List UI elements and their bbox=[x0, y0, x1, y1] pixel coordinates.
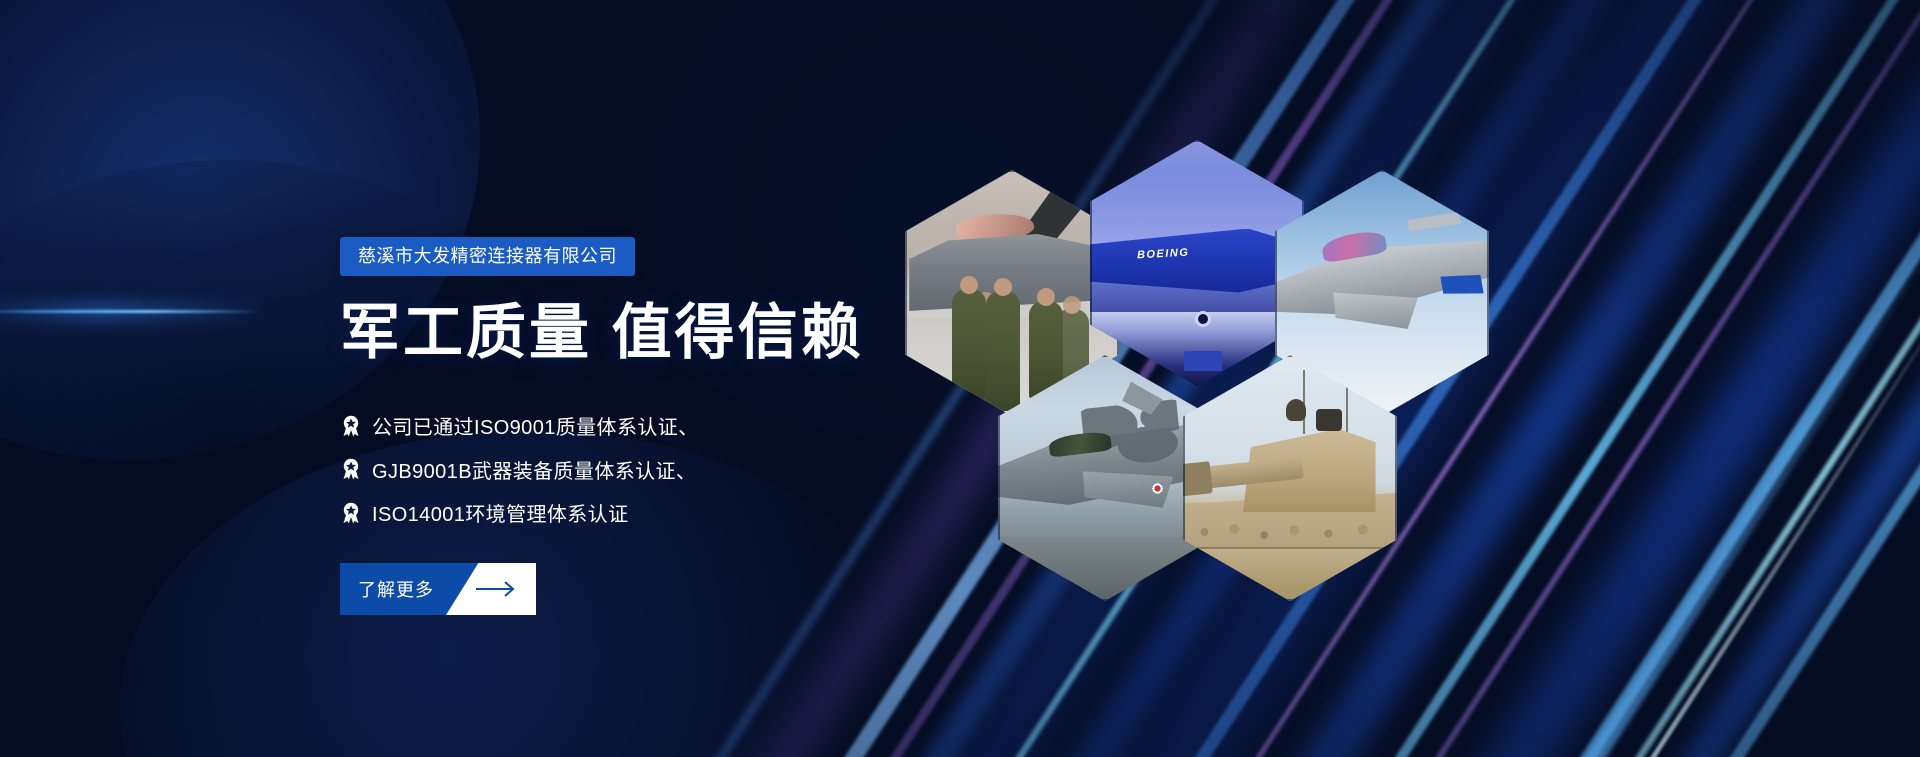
tank-crew-member bbox=[1286, 399, 1306, 421]
list-item-label: ISO14001环境管理体系认证 bbox=[372, 498, 628, 527]
hero-banner: 慈溪市大发精密连接器有限公司 军工质量 值得信赖 公司已通过ISO9001质量体… bbox=[0, 0, 1920, 757]
medal-icon bbox=[341, 458, 361, 480]
roundel-insignia bbox=[1152, 483, 1163, 494]
jet-canard bbox=[1407, 208, 1461, 236]
page-title: 军工质量 值得信赖 bbox=[340, 298, 864, 367]
company-name-badge: 慈溪市大发精密连接器有限公司 bbox=[340, 237, 635, 276]
arrow-right-icon bbox=[476, 563, 518, 615]
medal-icon bbox=[341, 415, 361, 437]
hangar-ceiling bbox=[1090, 140, 1304, 243]
learn-more-button[interactable]: 了解更多 bbox=[340, 563, 536, 615]
list-item-label: GJB9001B武器装备质量体系认证、 bbox=[372, 455, 696, 484]
learn-more-label: 了解更多 bbox=[358, 563, 434, 615]
light-beam-horizontal bbox=[0, 310, 260, 313]
pilot-figure bbox=[952, 289, 986, 401]
pilot-figure bbox=[986, 291, 1020, 411]
tank-optics bbox=[1316, 409, 1342, 431]
certification-list: 公司已通过ISO9001质量体系认证、 GJB9001B武器装备质量体系认证、 bbox=[341, 404, 699, 534]
lifting-hook bbox=[1195, 311, 1211, 327]
list-item: 公司已通过ISO9001质量体系认证、 bbox=[341, 404, 699, 447]
hero-content: 慈溪市大发精密连接器有限公司 军工质量 值得信赖 公司已通过ISO9001质量体… bbox=[340, 0, 980, 757]
hexagon-gallery: BOEING bbox=[905, 140, 1545, 640]
sandbag-armor bbox=[1183, 517, 1397, 547]
list-item: ISO14001环境管理体系认证 bbox=[341, 491, 699, 534]
terrain bbox=[998, 537, 1212, 601]
tank-side-skirt bbox=[1183, 547, 1397, 591]
list-item: GJB9001B武器装备质量体系认证、 bbox=[341, 448, 699, 491]
boeing-aircraft-image: BOEING bbox=[1090, 140, 1304, 386]
medal-icon bbox=[341, 502, 361, 524]
gallery-hex-boeing-aircraft[interactable]: BOEING bbox=[1090, 140, 1304, 386]
list-item-label: 公司已通过ISO9001质量体系认证、 bbox=[372, 411, 699, 440]
light-beam-glow bbox=[0, 300, 270, 322]
equipment-stand bbox=[1184, 351, 1222, 371]
